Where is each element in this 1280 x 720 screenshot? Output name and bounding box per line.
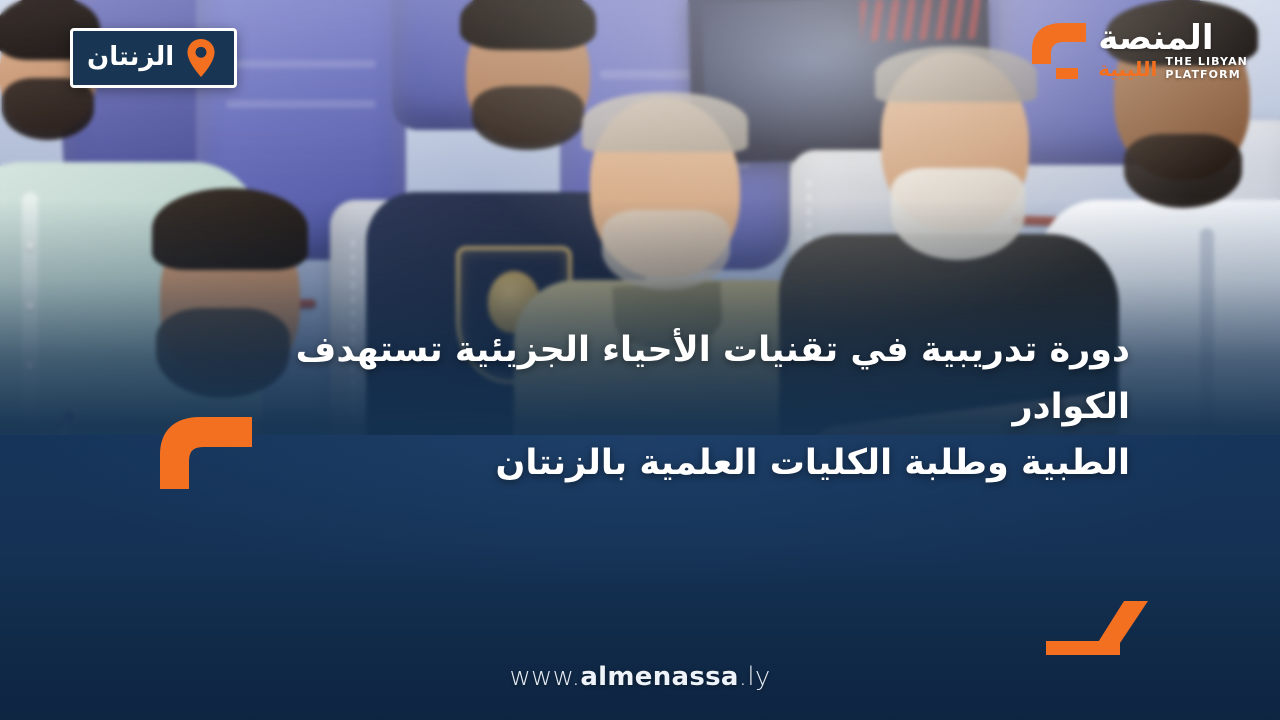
logo-arabic-name: المنصة (1098, 22, 1213, 54)
headline-line-1: دورة تدريبية في تقنيات الأحياء الجزيئية … (175, 322, 1130, 435)
orange-bracket-mark-icon (1026, 20, 1092, 82)
location-badge[interactable]: الزنتان (70, 28, 237, 88)
bracket-top-left-icon (160, 417, 252, 489)
news-card: الزنتان المنصة THE LIBYANPLATFORM الليبي… (0, 0, 1280, 720)
headline-line-2: الطبية وطلبة الكليات العلمية بالزنتان (175, 435, 1130, 492)
logo-arabic-subtitle: الليبية (1098, 59, 1157, 79)
logo-english-name: THE LIBYANPLATFORM (1165, 56, 1248, 81)
map-pin-icon (186, 39, 216, 77)
url-name: almenassa (580, 662, 738, 692)
url-prefix: www. (509, 662, 580, 692)
url-tld: .ly (739, 662, 771, 692)
website-url[interactable]: www.almenassa.ly (0, 662, 1280, 692)
bracket-bottom-right-icon (1046, 601, 1148, 655)
logo-text-block: المنصة THE LIBYANPLATFORM الليبية (1098, 18, 1248, 82)
headline: دورة تدريبية في تقنيات الأحياء الجزيئية … (175, 322, 1130, 492)
location-label: الزنتان (87, 44, 174, 73)
logo-subtitle-row: THE LIBYANPLATFORM الليبية (1098, 56, 1248, 81)
site-logo[interactable]: المنصة THE LIBYANPLATFORM الليبية (1026, 18, 1248, 82)
